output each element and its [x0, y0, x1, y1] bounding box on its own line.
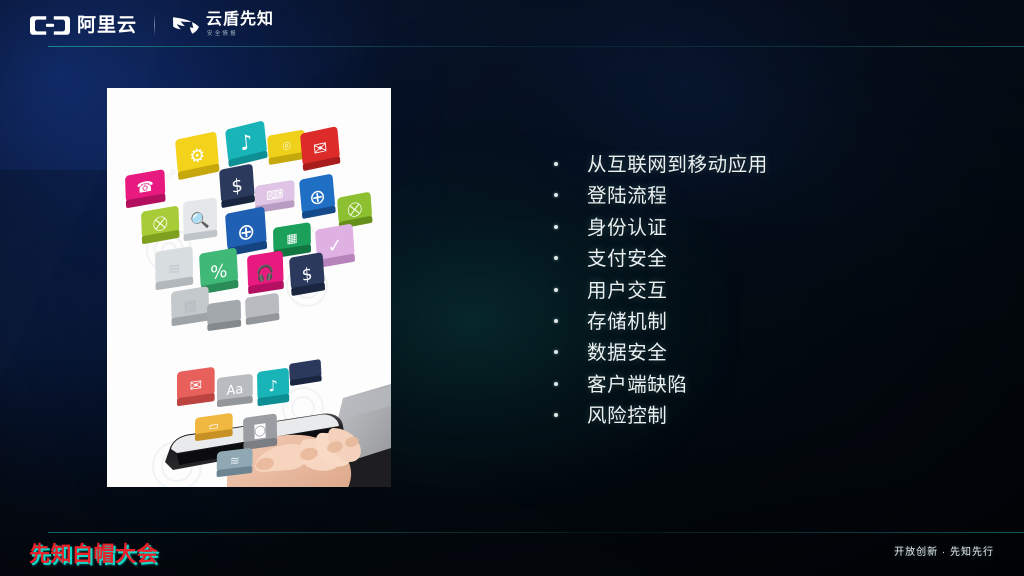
svg-text:$: $: [231, 175, 244, 198]
svg-text:✉: ✉: [312, 138, 328, 161]
bullet-dot-icon: [554, 193, 558, 197]
header-divider-rule: [48, 46, 1024, 47]
list-item: 风险控制: [548, 399, 968, 430]
bullet-dot-icon: [554, 288, 558, 292]
svg-text:▤: ▤: [183, 297, 196, 315]
svg-text:⊕: ⊕: [308, 183, 327, 210]
bullet-dot-icon: [554, 382, 558, 386]
xianzhi-wordmark-group: 云盾先知 安全情报: [206, 12, 274, 38]
list-item: 从互联网到移动应用: [548, 148, 968, 179]
svg-text:⛒: ⛒: [347, 200, 363, 219]
brand-logo-group: 阿里云 云盾先知 安全情报: [30, 13, 274, 37]
list-item-label: 客户端缺陷: [587, 368, 688, 397]
mobile-apps-illustration: dreamstime dreamstime dreamstime: [107, 88, 391, 487]
svg-text:Aa: Aa: [227, 382, 244, 399]
xianzhi-wordmark: 云盾先知: [206, 12, 274, 28]
bullet-dot-icon: [554, 319, 558, 323]
svg-text:🎧: 🎧: [256, 263, 275, 284]
footer-divider-rule: [48, 532, 1024, 533]
list-item-label: 数据安全: [587, 336, 667, 365]
svg-text:✉: ✉: [190, 376, 202, 396]
list-item: 用户交互: [548, 274, 968, 305]
alibaba-cloud-wordmark: 阿里云: [77, 15, 137, 36]
svg-text:≋: ≋: [230, 453, 240, 468]
svg-text:⛒: ⛒: [153, 214, 168, 233]
slide-header: 阿里云 云盾先知 安全情报: [0, 0, 1024, 47]
agenda-bullet-list: 从互联网到移动应用 登陆流程 身份认证 支付安全 用户交互 存储机制 数据安全: [548, 148, 968, 431]
list-item: 身份认证: [548, 211, 968, 242]
list-item: 登陆流程: [548, 179, 968, 210]
svg-text:🔍: 🔍: [190, 208, 210, 231]
list-item: 数据安全: [548, 336, 968, 367]
svg-text:▭: ▭: [209, 419, 219, 434]
bullet-dot-icon: [554, 225, 558, 229]
xianzhi-shield-wing-icon: [172, 15, 200, 35]
svg-text:$: $: [301, 264, 313, 286]
svg-text:✓: ✓: [327, 234, 343, 258]
bullet-dot-icon: [554, 350, 558, 354]
svg-text:◙: ◙: [253, 422, 267, 440]
svg-text:%: %: [210, 260, 228, 284]
list-item-label: 用户交互: [587, 274, 667, 303]
svg-text:♪: ♪: [239, 129, 254, 156]
svg-text:≋: ≋: [167, 258, 181, 279]
list-item-label: 登陆流程: [587, 179, 667, 208]
list-item-label: 风险控制: [587, 399, 667, 428]
bullet-dot-icon: [554, 256, 558, 260]
alibaba-cloud-bracket-icon: [30, 15, 70, 36]
svg-text:☎: ☎: [136, 178, 154, 197]
list-item: 存储机制: [548, 305, 968, 336]
svg-text:⊕: ⊕: [236, 219, 256, 248]
conference-slogan: 开放创新 · 先知先行: [894, 546, 994, 560]
presentation-slide: 阿里云 云盾先知 安全情报: [0, 0, 1024, 576]
slide-image-mobile-apps: dreamstime dreamstime dreamstime: [107, 88, 391, 487]
xianzhi-sub-wordmark: 安全情报: [207, 30, 274, 38]
svg-text:⌨: ⌨: [266, 187, 283, 204]
list-item: 支付安全: [548, 242, 968, 273]
list-item-label: 从互联网到移动应用: [587, 148, 768, 177]
list-item: 客户端缺陷: [548, 368, 968, 399]
svg-text:♪: ♪: [268, 376, 278, 395]
svg-text:▦: ▦: [286, 230, 297, 246]
conference-logo: 先知白帽大会: [29, 543, 158, 566]
logo-divider: [154, 14, 155, 36]
list-item-label: 身份认证: [587, 211, 667, 240]
list-item-label: 存储机制: [587, 305, 667, 334]
bullet-dot-icon: [554, 413, 558, 417]
list-item-label: 支付安全: [587, 242, 667, 271]
bullet-dot-icon: [554, 162, 558, 166]
svg-text:⚙: ⚙: [189, 144, 207, 168]
